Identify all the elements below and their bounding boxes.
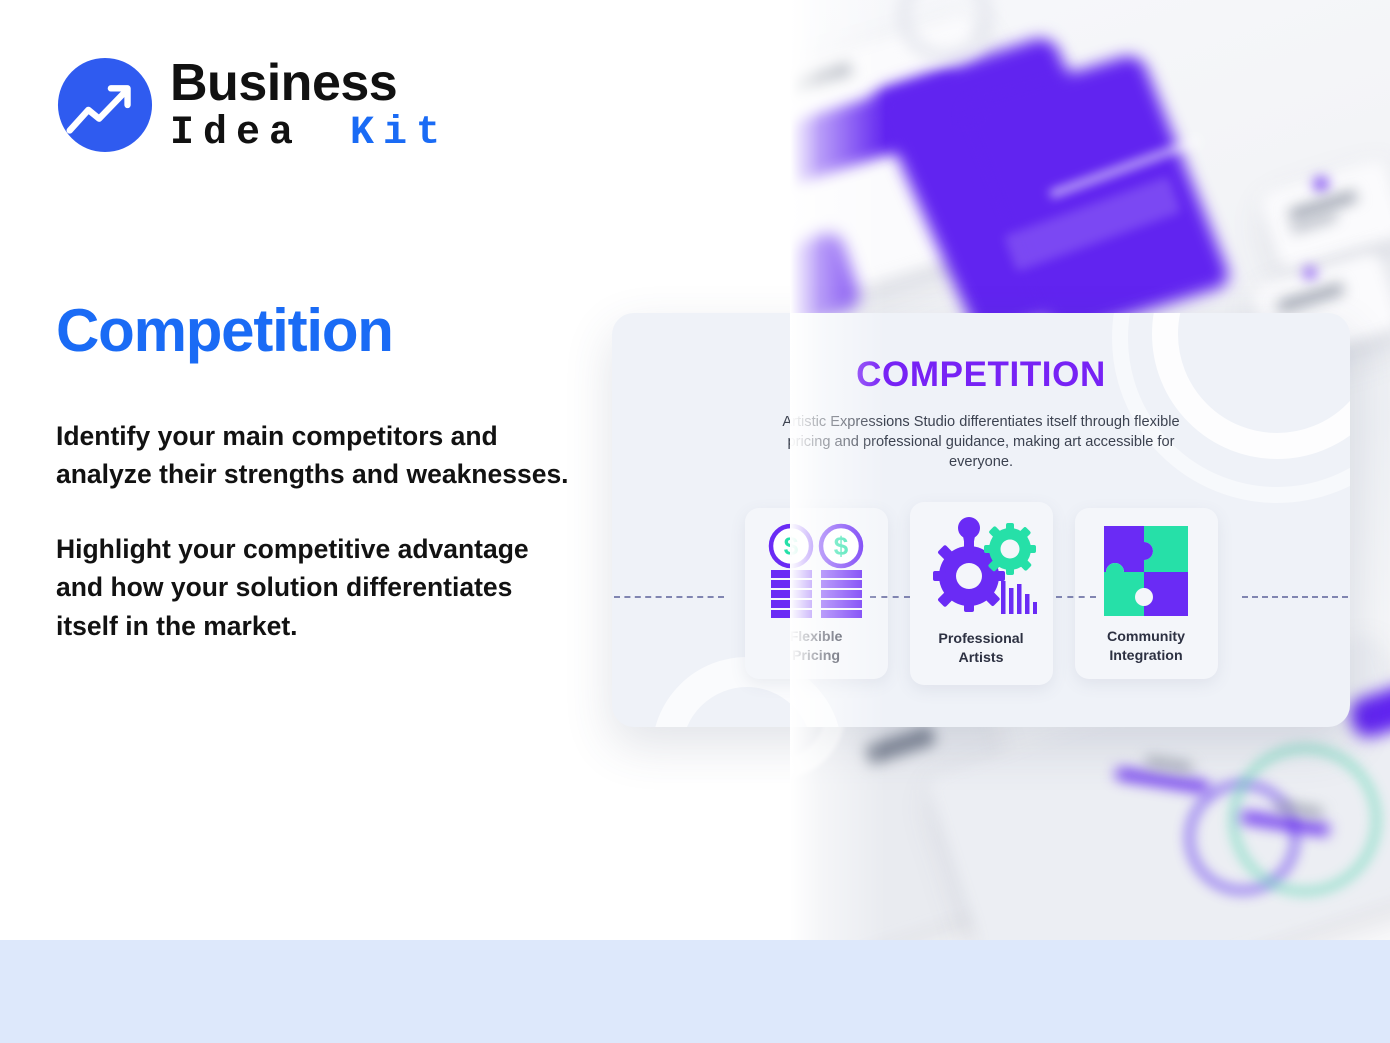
logo-kit-text: Kit [350, 111, 449, 156]
preview-card-title: COMPETITION [612, 355, 1350, 395]
logo-idea-text: Idea [170, 111, 302, 156]
feature-card-professional-artists[interactable]: Professional Artists [910, 502, 1053, 684]
connector-dashed-mid-2 [1056, 596, 1096, 598]
logo: Business Idea Kit [56, 56, 449, 154]
feature-label: Professional Artists [938, 630, 1023, 666]
trend-arrow-circle-icon [56, 56, 154, 154]
bottom-band [0, 940, 1390, 1043]
logo-business-text: Business [170, 54, 397, 112]
feature-label-line1: Professional [938, 631, 1023, 647]
feature-card-community-integration[interactable]: Community Integration [1075, 508, 1218, 678]
connector-dashed-right [1242, 596, 1348, 598]
logo-wordmark: Business Idea Kit [170, 57, 449, 154]
feature-list: $ $ [612, 502, 1350, 684]
feature-label: Community Integration [1107, 628, 1185, 664]
bg-dot [1313, 176, 1329, 192]
coin-stacks-dollar-icon: $ $ [763, 522, 869, 620]
gears-lightbulb-chart-icon [925, 512, 1037, 622]
bg-dot [1303, 266, 1317, 280]
svg-text:$: $ [784, 531, 799, 561]
logo-line-business: Business [170, 57, 449, 109]
preview-card: COMPETITION Artistic Expressions Studio … [612, 313, 1350, 727]
feature-label-line2: Artists [959, 650, 1004, 666]
logo-line-ideakit: Idea Kit [170, 114, 449, 154]
slide-root: Business Idea Kit Competition Identify y… [0, 0, 1390, 1043]
connector-dashed-mid-1 [870, 596, 910, 598]
feature-label: Flexible Pricing [790, 628, 843, 664]
connector-dashed-left [614, 596, 724, 598]
feature-label-line1: Flexible [790, 629, 843, 645]
page-title: Competition [56, 296, 393, 365]
svg-text:$: $ [834, 531, 849, 561]
decorative-ring-icon [1112, 313, 1350, 503]
feature-label-line2: Integration [1109, 648, 1182, 664]
body-paragraph-1: Identify your main competitors and analy… [56, 417, 576, 494]
body-paragraph-2: Highlight your competitive advantage and… [56, 530, 576, 645]
feature-card-flexible-pricing[interactable]: $ $ [745, 508, 888, 678]
feature-label-line1: Community [1107, 629, 1185, 645]
body-copy: Identify your main competitors and analy… [56, 417, 576, 645]
feature-label-line2: Pricing [792, 648, 840, 664]
preview-card-description: Artistic Expressions Studio differentiat… [766, 412, 1196, 472]
puzzle-pieces-icon [1096, 522, 1196, 620]
